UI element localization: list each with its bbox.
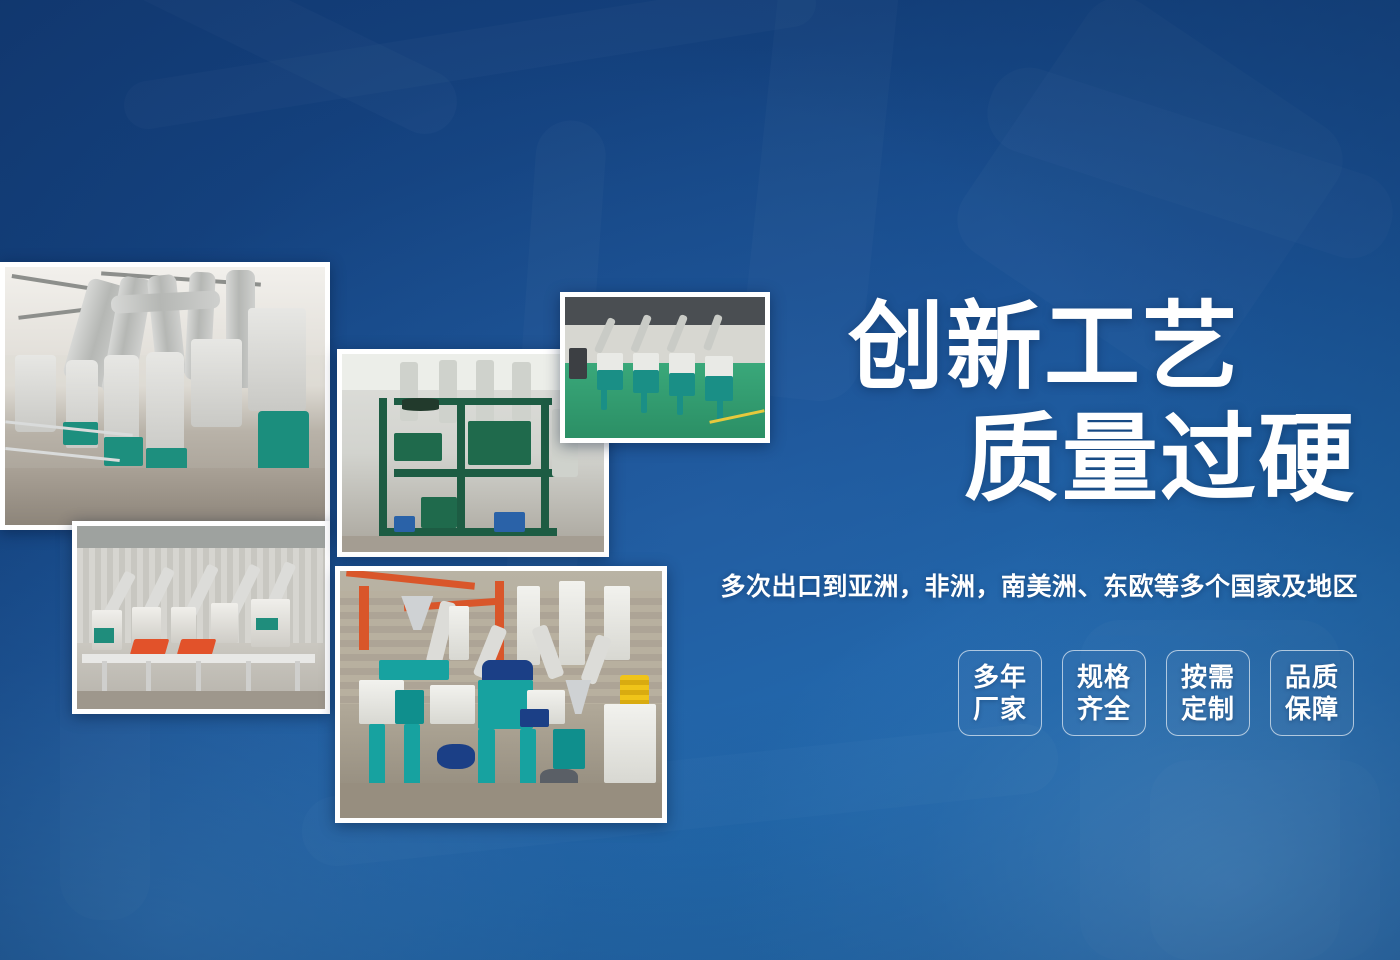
badge-line-top: 规格: [1077, 661, 1131, 693]
photo-cleaning-platform: [72, 521, 330, 714]
subtitle: 多次出口到亚洲，非洲，南美洲、东欧等多个国家及地区: [718, 567, 1358, 603]
badge-custom-made[interactable]: 按需 定制: [1166, 650, 1250, 736]
badge-full-specifications[interactable]: 规格 齐全: [1062, 650, 1146, 736]
badge-line-top: 品质: [1285, 661, 1339, 693]
badge-line-top: 多年: [973, 661, 1027, 693]
badge-line-bottom: 定制: [1181, 693, 1235, 725]
photo-milling-line: [0, 262, 330, 530]
badge-line-bottom: 齐全: [1077, 693, 1131, 725]
badge-line-bottom: 保障: [1285, 693, 1339, 725]
badge-line-bottom: 厂家: [973, 693, 1027, 725]
badge-quality-guarantee[interactable]: 品质 保障: [1270, 650, 1354, 736]
badge-line-top: 按需: [1181, 661, 1235, 693]
headline: 创新工艺 质量过硬: [718, 292, 1358, 516]
photo-teal-mill-yellow-elevator: [335, 566, 667, 823]
headline-line-1: 创新工艺: [718, 292, 1358, 404]
badge-years-manufacturer[interactable]: 多年 厂家: [958, 650, 1042, 736]
feature-badges: 多年 厂家 规格 齐全 按需 定制 品质 保障: [718, 650, 1358, 736]
promo-banner: 创新工艺 质量过硬 多次出口到亚洲，非洲，南美洲、东欧等多个国家及地区 多年 厂…: [0, 0, 1400, 960]
headline-line-2: 质量过硬: [718, 404, 1358, 516]
content-block: 创新工艺 质量过硬 多次出口到亚洲，非洲，南美洲、东欧等多个国家及地区 多年 厂…: [718, 0, 1358, 960]
